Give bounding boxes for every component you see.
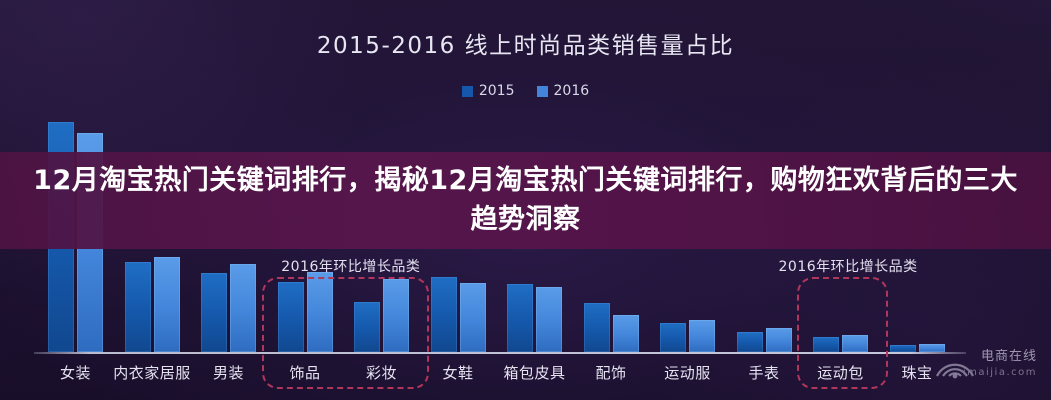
bar-2016-运动包 [842, 335, 868, 352]
bar-2015-珠宝 [890, 345, 916, 352]
bar-2016-内衣家居服 [154, 257, 180, 352]
bar-2015-彩妆 [354, 302, 380, 352]
bar-2016-箱包皮具 [536, 287, 562, 352]
bar-2015-手表 [737, 332, 763, 352]
bar-2016-彩妆 [383, 279, 409, 352]
bar-2016-运动服 [689, 320, 715, 352]
bar-2016-男装 [230, 264, 256, 352]
bar-2015-内衣家居服 [125, 262, 151, 352]
bar-2015-饰品 [278, 282, 304, 352]
watermark-url: imaijia.com [963, 367, 1037, 378]
watermark: 电商在线 imaijia.com [931, 342, 1043, 388]
bar-2015-女鞋 [431, 277, 457, 352]
headline-text: 12月淘宝热门关键词排行，揭秘12月淘宝热门关键词排行，购物狂欢背后的三大趋势洞… [0, 152, 1051, 249]
bar-2015-运动服 [660, 323, 686, 352]
poster-root: 2015-2016 线上时尚品类销售量占比 2015 2016 女装内衣家居服男… [0, 0, 1051, 400]
highlight-caption-1: 2016年环比增长品类 [281, 256, 405, 276]
bar-2016-手表 [766, 328, 792, 352]
bar-2015-运动包 [813, 337, 839, 352]
bar-2015-男装 [201, 273, 227, 352]
bar-2015-配饰 [584, 303, 610, 352]
bar-2016-配饰 [613, 315, 639, 352]
bar-2016-女鞋 [460, 283, 486, 352]
x-axis-baseline [34, 352, 966, 354]
highlight-caption-2: 2016年环比增长品类 [779, 256, 903, 276]
watermark-title: 电商在线 [981, 345, 1037, 364]
bar-2016-饰品 [307, 272, 333, 353]
bar-2015-箱包皮具 [507, 284, 533, 352]
